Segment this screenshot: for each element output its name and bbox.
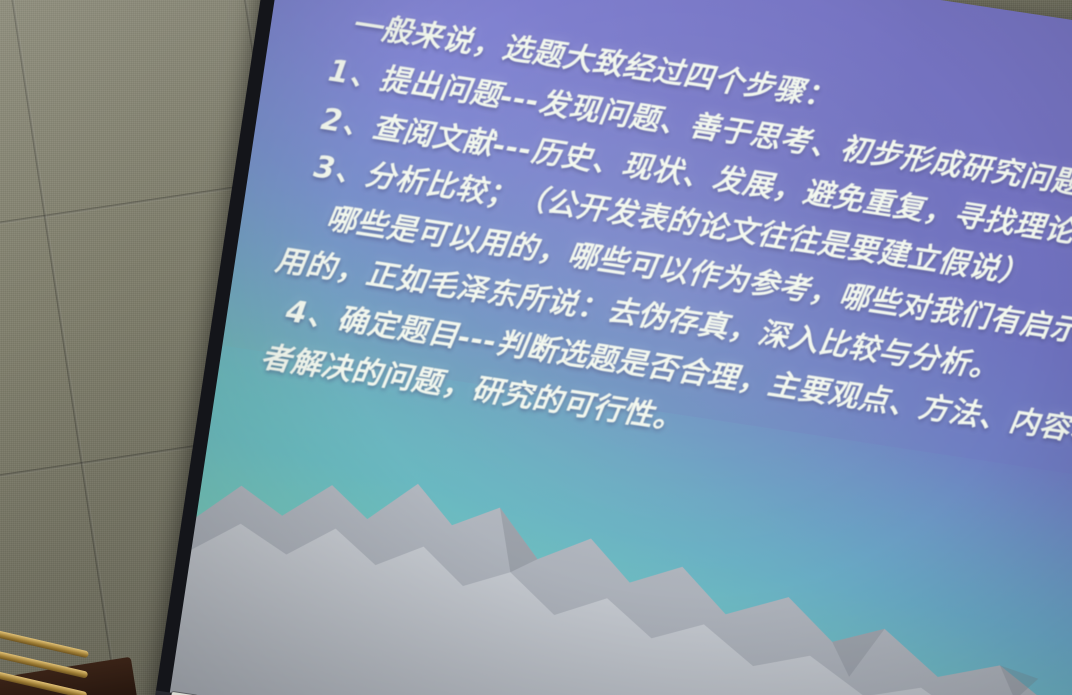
photo-scene: 一般来说，选题大致经过四个步骤： 1、提出问题---发现问题、善于思考、初步形成… <box>0 0 1072 695</box>
chair-rail <box>0 618 89 659</box>
projector-screen: 一般来说，选题大致经过四个步骤： 1、提出问题---发现问题、善于思考、初步形成… <box>150 0 1072 695</box>
presentation-slide: 一般来说，选题大致经过四个步骤： 1、提出问题---发现问题、善于思考、初步形成… <box>170 0 1072 695</box>
